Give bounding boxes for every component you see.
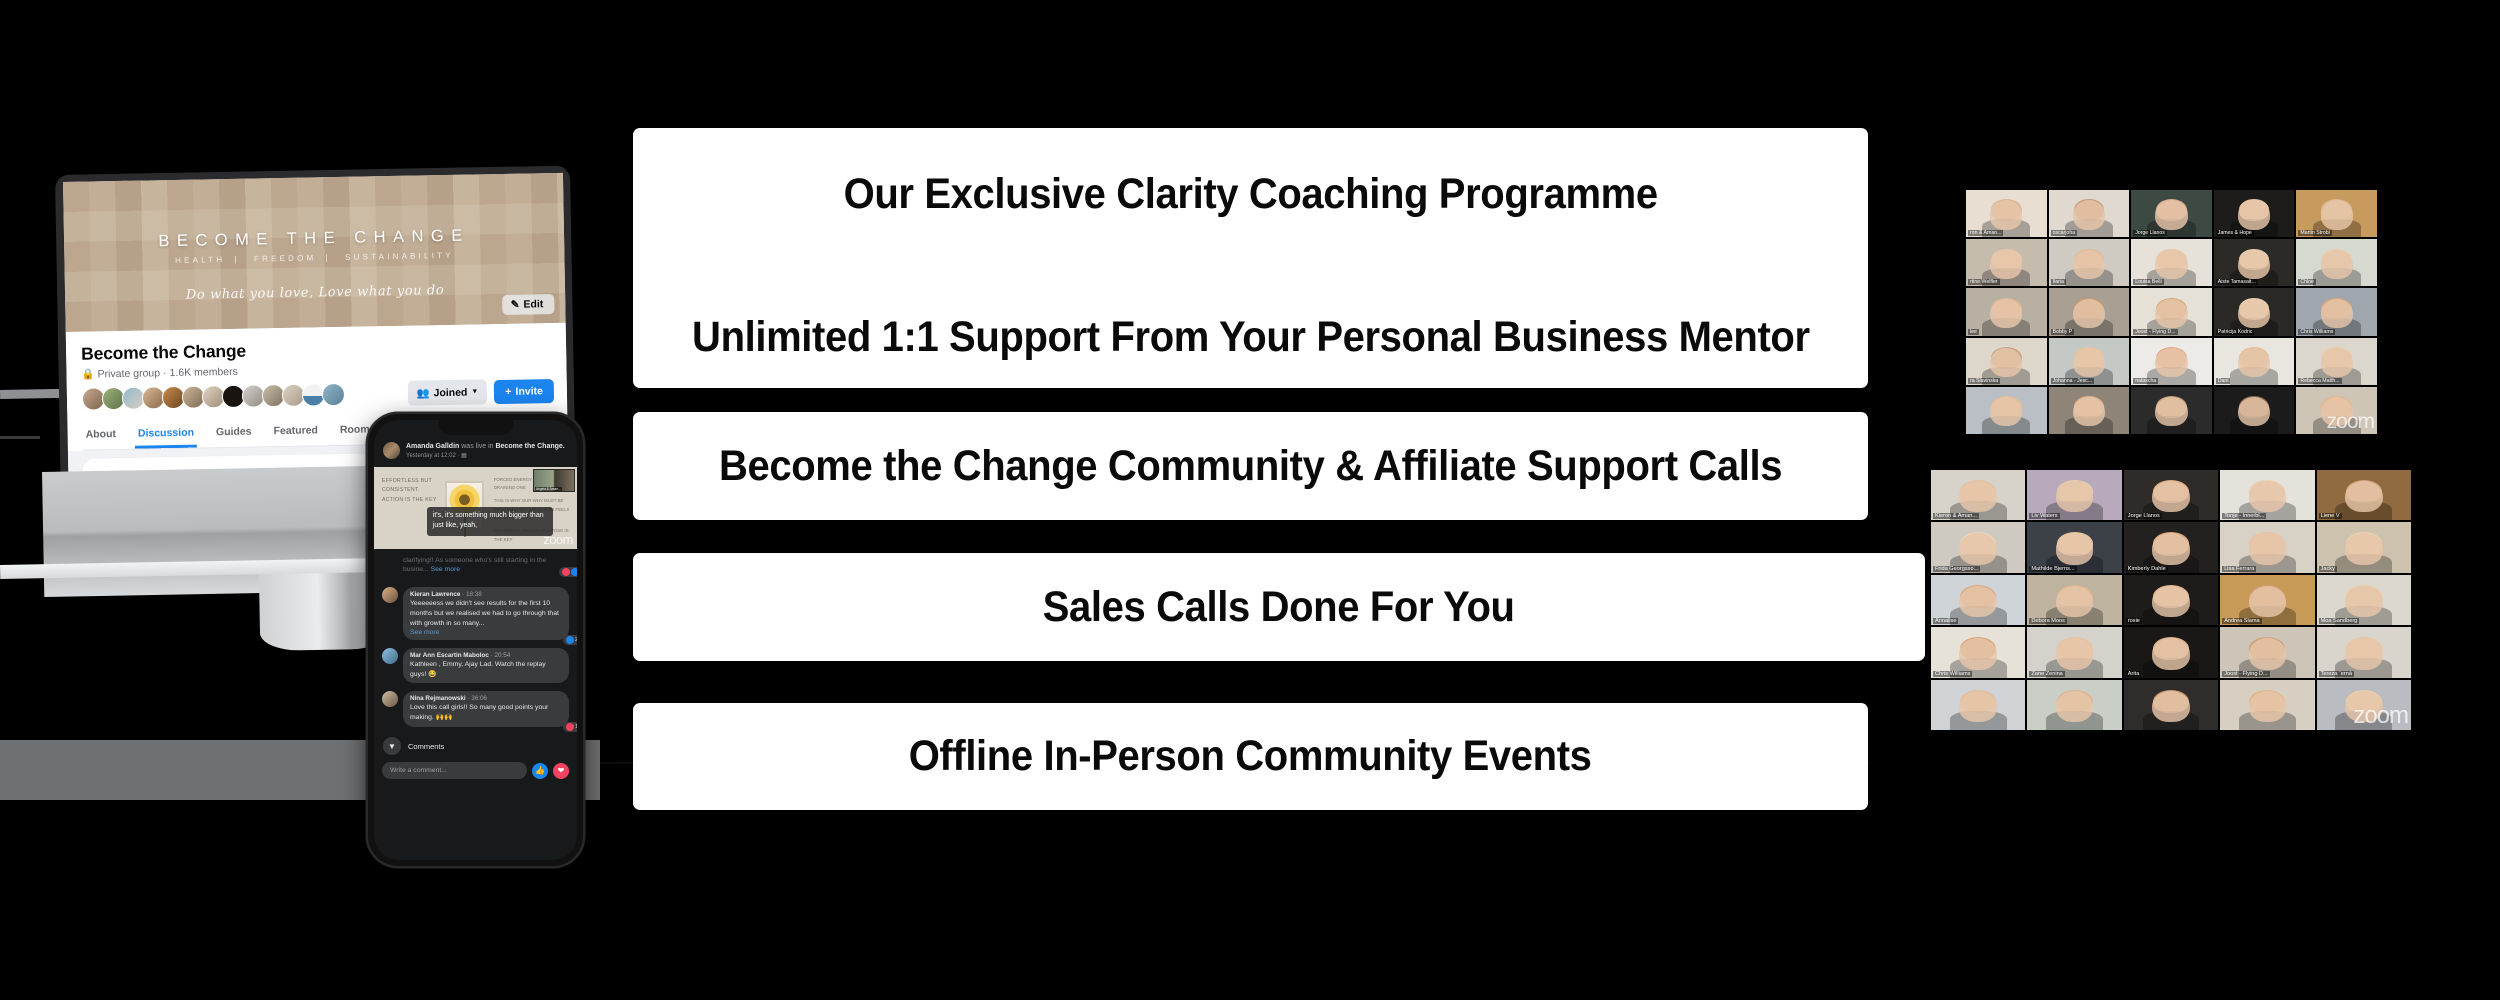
feature-cards: Our Exclusive Clarity Coaching Programme… xyxy=(0,0,2500,1000)
feature-card-4[interactable]: Offline In-Person Community Events xyxy=(633,703,1868,810)
feature-card-3-text: Sales Calls Done For You xyxy=(1043,583,1515,632)
feature-card-3[interactable]: Sales Calls Done For You xyxy=(633,553,1925,661)
feature-card-1-line-1: Our Exclusive Clarity Coaching Programme xyxy=(843,170,1657,219)
feature-card-2-text: Become the Change Community & Affiliate … xyxy=(719,442,1782,491)
feature-card-1[interactable]: Our Exclusive Clarity Coaching Programme… xyxy=(633,128,1868,388)
feature-card-2[interactable]: Become the Change Community & Affiliate … xyxy=(633,412,1868,520)
feature-card-4-text: Offline In-Person Community Events xyxy=(909,732,1592,781)
feature-card-1-line-2: Unlimited 1:1 Support From Your Personal… xyxy=(692,313,1810,362)
